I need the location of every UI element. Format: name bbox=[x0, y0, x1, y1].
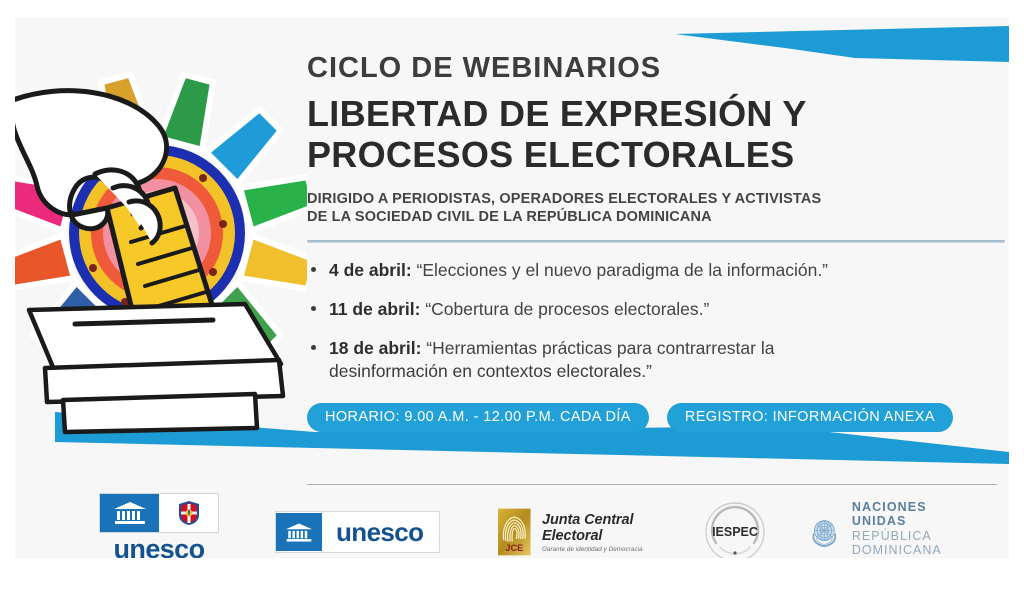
session-topic-continued: desinformación en contextos electorales.… bbox=[329, 360, 997, 383]
fingerprint-icon: JCE bbox=[498, 499, 531, 558]
registration-badge[interactable]: REGISTRO: INFORMACIÓN ANEXA bbox=[667, 403, 953, 432]
united-nations-emblem-icon bbox=[808, 509, 841, 555]
footer-divider bbox=[307, 484, 997, 485]
logo-unesco: unesco bbox=[275, 511, 440, 553]
list-item: 18 de abril: “Herramientas prácticas par… bbox=[307, 337, 997, 383]
poster-canvas: CICLO DE WEBINARIOS LIBERTAD DE EXPRESIÓ… bbox=[15, 18, 1009, 558]
un-line2: REPÚBLICA DOMINICANA bbox=[852, 529, 975, 557]
list-item: 11 de abril: “Cobertura de procesos elec… bbox=[307, 298, 997, 321]
poster-title-line2: PROCESOS ELECTORALES bbox=[307, 134, 997, 175]
unesco-dr-mark bbox=[99, 493, 219, 533]
bullet-dot-icon bbox=[311, 267, 316, 272]
un-line1: NACIONES UNIDAS bbox=[852, 500, 975, 528]
poster-subtitle: DIRIGIDO A PERIODISTAS, OPERADORES ELECT… bbox=[307, 190, 997, 227]
logo-strip: unesco COMISIÓN NACIONAL DOMINICANA bbox=[55, 496, 975, 558]
unesco-wordmark: unesco bbox=[322, 519, 439, 545]
iespec-circle-icon: IESPEC bbox=[704, 501, 766, 558]
jce-name: Junta Central Electoral bbox=[542, 512, 652, 544]
session-topic: “Cobertura de procesos electorales.” bbox=[425, 299, 709, 319]
poster-root: CICLO DE WEBINARIOS LIBERTAD DE EXPRESIÓ… bbox=[0, 0, 1024, 601]
logo-naciones-unidas: NACIONES UNIDAS REPÚBLICA DOMINICANA bbox=[808, 500, 975, 558]
session-date: 11 de abril: bbox=[329, 299, 420, 319]
session-list: 4 de abril: “Elecciones y el nuevo parad… bbox=[307, 259, 997, 383]
poster-subtitle-line2: DE LA SOCIEDAD CIVIL DE LA REPÚBLICA DOM… bbox=[307, 208, 997, 227]
list-item: 4 de abril: “Elecciones y el nuevo parad… bbox=[307, 259, 997, 282]
session-topic: “Elecciones y el nuevo paradigma de la i… bbox=[417, 260, 828, 280]
unesco-horizontal-mark: unesco bbox=[275, 511, 440, 553]
unesco-temple-icon bbox=[276, 513, 322, 551]
dominican-republic-coat-of-arms-icon bbox=[159, 494, 218, 532]
logo-iespec: IESPEC bbox=[704, 501, 766, 558]
badge-row: HORARIO: 9.00 A.M. - 12.00 P.M. CADA DÍA… bbox=[307, 403, 997, 432]
iespec-label: IESPEC bbox=[712, 525, 758, 539]
jce-mark-text: JCE bbox=[506, 543, 524, 553]
ballot-box-illustration bbox=[15, 28, 307, 438]
section-divider bbox=[307, 240, 1005, 243]
session-topic: “Herramientas prácticas para contrarrest… bbox=[426, 338, 774, 358]
jce-tagline: Garante de identidad y Democracia bbox=[542, 546, 652, 553]
bullet-dot-icon bbox=[311, 345, 316, 350]
unesco-dr-wordmark: unesco bbox=[114, 536, 205, 559]
logo-junta-central-electoral: JCE Junta Central Electoral Garante de i… bbox=[498, 499, 652, 558]
poster-title-line1: LIBERTAD DE EXPRESIÓN Y bbox=[307, 93, 807, 134]
poster-title: LIBERTAD DE EXPRESIÓN Y PROCESOS ELECTOR… bbox=[307, 93, 997, 176]
logo-unesco-dominican-republic: unesco COMISIÓN NACIONAL DOMINICANA bbox=[99, 493, 219, 559]
jce-text-block: Junta Central Electoral Garante de ident… bbox=[542, 512, 652, 553]
poster-kicker: CICLO DE WEBINARIOS bbox=[307, 54, 997, 83]
bullet-dot-icon bbox=[311, 306, 316, 311]
poster-content: CICLO DE WEBINARIOS LIBERTAD DE EXPRESIÓ… bbox=[307, 54, 997, 432]
session-date: 18 de abril: bbox=[329, 338, 421, 358]
schedule-badge[interactable]: HORARIO: 9.00 A.M. - 12.00 P.M. CADA DÍA bbox=[307, 403, 649, 432]
poster-subtitle-line1: DIRIGIDO A PERIODISTAS, OPERADORES ELECT… bbox=[307, 191, 821, 207]
session-date: 4 de abril: bbox=[329, 260, 412, 280]
unesco-temple-icon bbox=[100, 494, 159, 532]
un-text-block: NACIONES UNIDAS REPÚBLICA DOMINICANA bbox=[852, 500, 975, 558]
